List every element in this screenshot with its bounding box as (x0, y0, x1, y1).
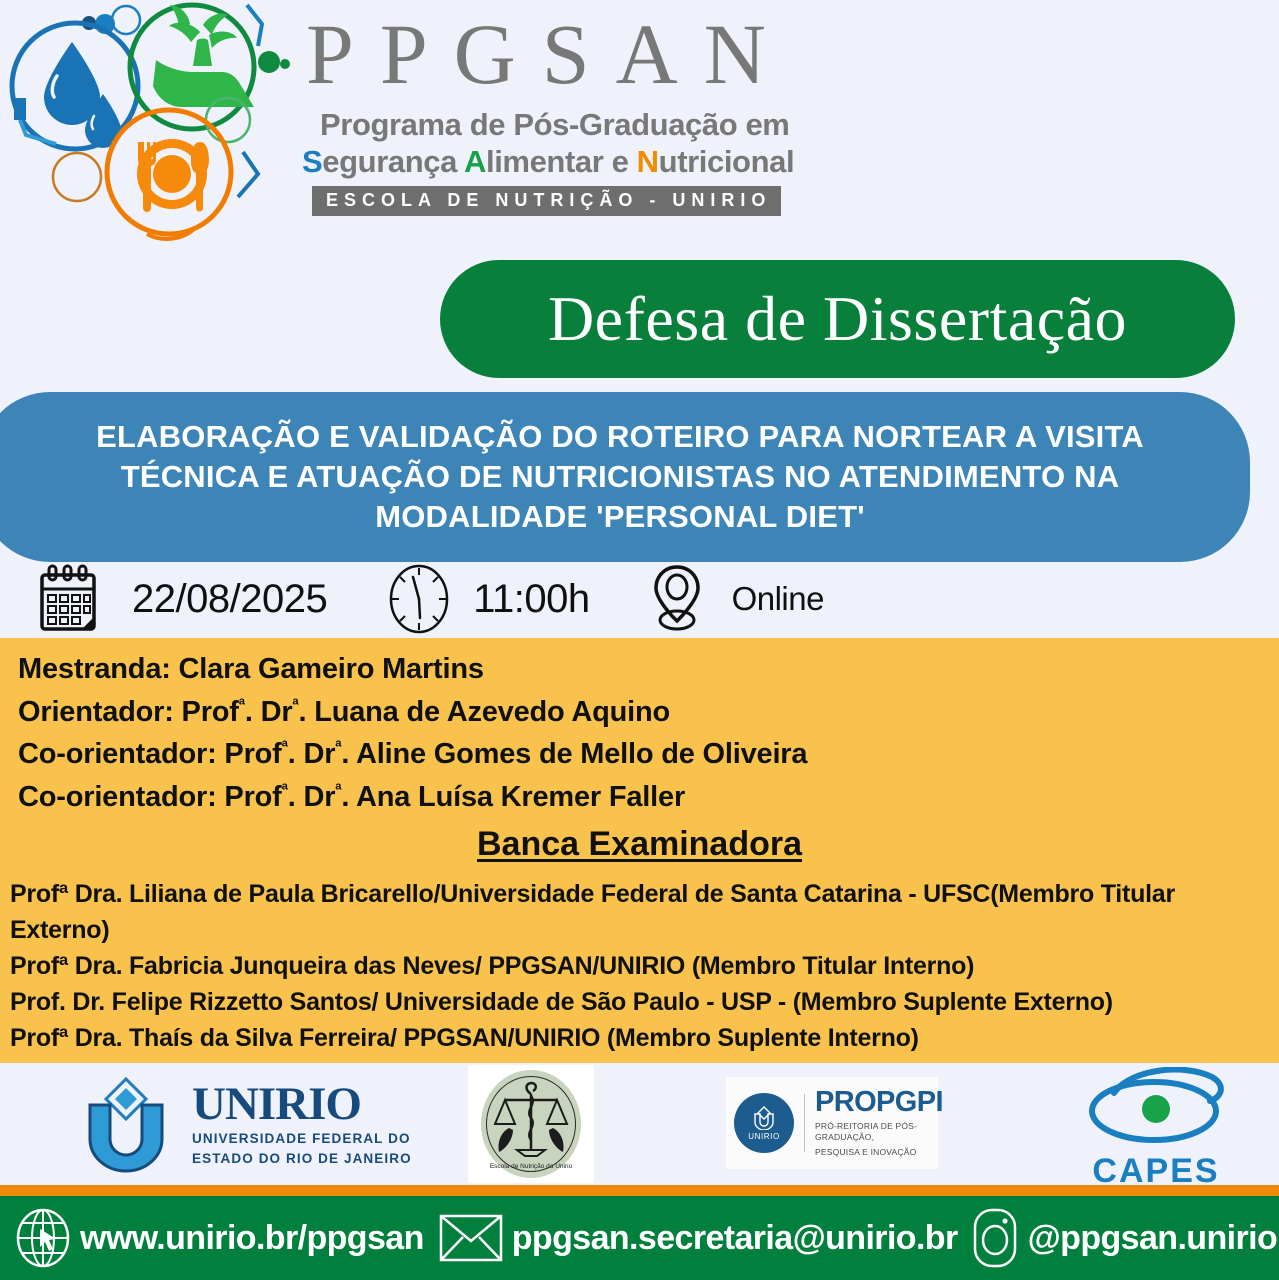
circle-outline-icon (53, 153, 101, 201)
dot-icon (258, 51, 280, 73)
propgpi-badge-label: UNIRIO (748, 1132, 780, 1141)
unirio-subtitle-2: ESTADO DO RIO DE JANEIRO (192, 1151, 412, 1168)
coadvisor-2-prefix: Co-orientador: Prof (18, 781, 282, 813)
coadvisor-1-prefix: Co-orientador: Prof (18, 738, 282, 770)
connector-line (238, 152, 258, 197)
circle-outline-icon (112, 6, 140, 34)
brand-school-bar: ESCOLA DE NUTRIÇÃO - UNIRIO (312, 186, 781, 216)
brand-line-2: Segurança Alimentar e Nutricional (298, 144, 858, 180)
website-item[interactable]: www.unirio.br/ppgsan (14, 1207, 424, 1269)
poster-header: PPGSAN Programa de Pós-Graduação em Segu… (0, 0, 1279, 248)
orange-stripe (0, 1185, 1279, 1196)
propgpi-text: PROPGPI PRÓ-REITORIA DE PÓS-GRADUAÇÃO, P… (815, 1088, 943, 1158)
clock-icon (387, 563, 451, 635)
poster-root: PPGSAN Programa de Pós-Graduação em Segu… (0, 0, 1279, 1280)
brand-line-1: Programa de Pós-Graduação em (298, 107, 858, 143)
propgpi-tagline-2: PESQUISA E INOVAÇÃO (815, 1147, 943, 1158)
capes-mark-icon (1076, 1067, 1236, 1151)
propgpi-tagline-1: PRÓ-REITORIA DE PÓS-GRADUAÇÃO, (815, 1121, 943, 1143)
advisor-mid: . Dr (245, 696, 293, 728)
map-pin-icon (648, 563, 706, 635)
coadvisor-1-name: . Aline Gomes de Mello de Oliveira (341, 738, 807, 770)
event-meta-row: 22/08/2025 11:00h (0, 560, 1279, 638)
event-date-item: 22/08/2025 (34, 563, 327, 635)
escola-ring (486, 1076, 576, 1172)
advisor-prefix: Orientador: Prof (18, 696, 239, 728)
event-date: 22/08/2025 (132, 577, 327, 622)
committee-member: Prof. Dr. Felipe Rizzetto Santos/ Univer… (8, 984, 1271, 1020)
brand-acronym: PPGSAN (298, 4, 858, 105)
event-type-label: Defesa de Dissertação (548, 282, 1127, 356)
advisor-name: . Luana de Azevedo Aquino (299, 696, 671, 728)
brand-seguranca: egurança (322, 144, 464, 179)
instagram-icon (970, 1207, 1020, 1269)
event-type-banner: Defesa de Dissertação (440, 260, 1235, 378)
unirio-logo: UNIRIO UNIVERSIDADE FEDERAL DO ESTADO DO… (72, 1075, 412, 1173)
contact-footer: www.unirio.br/ppgsan ppgsan.secretaria@u… (0, 1196, 1279, 1280)
propgpi-badge: UNIRIO (734, 1093, 794, 1153)
propgpi-logo: UNIRIO PROPGPI PRÓ-REITORIA DE PÓS-GRADU… (726, 1077, 938, 1169)
unirio-mark-small-icon (751, 1106, 777, 1130)
email-text: ppgsan.secretaria@unirio.br (512, 1219, 958, 1258)
committee-member: Profª Dra. Thaís da Silva Ferreira/ PPGS… (8, 1020, 1271, 1056)
sponsor-logos-row: UNIRIO UNIVERSIDADE FEDERAL DO ESTADO DO… (0, 1063, 1279, 1185)
unirio-name: UNIRIO (192, 1081, 412, 1128)
plate-cutlery-icon (137, 139, 209, 212)
thesis-title: ELABORAÇÃO E VALIDAÇÃO DO ROTEIRO PARA N… (50, 417, 1190, 536)
event-place-item: Online (648, 563, 824, 635)
details-panel: Mestranda: Clara Gameiro Martins Orienta… (0, 638, 1279, 1063)
coadvisor-1-line: Co-orientador: Profª. Drª. Aline Gomes d… (8, 733, 1271, 776)
capes-logo: CAPES (1076, 1067, 1236, 1182)
event-place: Online (732, 580, 824, 618)
student-line: Mestranda: Clara Gameiro Martins (8, 648, 1271, 691)
globe-icon (14, 1207, 72, 1269)
coadvisor-2-mid: . Dr (288, 781, 336, 813)
propgpi-name: PROPGPI (815, 1088, 943, 1117)
website-text: www.unirio.br/ppgsan (80, 1219, 424, 1258)
brand-block: PPGSAN Programa de Pós-Graduação em Segu… (298, 4, 858, 240)
instagram-item[interactable]: @ppgsan.unirio (970, 1207, 1278, 1269)
square-dot-icon (14, 98, 26, 120)
decorative-icon-cluster (4, 2, 296, 242)
committee-heading: Banca Examinadora (8, 825, 1271, 864)
brand-alimentar: limentar e (486, 144, 637, 179)
thesis-title-banner: ELABORAÇÃO E VALIDAÇÃO DO ROTEIRO PARA N… (0, 392, 1250, 562)
event-time-item: 11:00h (387, 563, 589, 635)
committee-member: Profª Dra. Liliana de Paula Bricarello/U… (8, 876, 1271, 948)
email-item[interactable]: ppgsan.secretaria@unirio.br (438, 1210, 958, 1266)
hand-plant-ring (130, 5, 254, 129)
coadvisor-2-name: . Ana Luísa Kremer Faller (341, 781, 685, 813)
unirio-subtitle-1: UNIVERSIDADE FEDERAL DO (192, 1131, 412, 1148)
committee-member: Profª Dra. Fabricia Junqueira das Neves/… (8, 948, 1271, 984)
escola-disc: Escola de Nutrição da Unirio (481, 1070, 581, 1178)
unirio-text: UNIRIO UNIVERSIDADE FEDERAL DO ESTADO DO… (192, 1081, 412, 1168)
coadvisor-1-mid: . Dr (288, 738, 336, 770)
brand-a-letter: A (464, 144, 486, 179)
brand-nutricional: utricional (659, 144, 795, 179)
advisor-line: Orientador: Profª. Drª. Luana de Azevedo… (8, 691, 1271, 734)
brand-s-letter: S (302, 144, 322, 179)
unirio-mark-icon (72, 1075, 180, 1173)
coadvisor-2-line: Co-orientador: Profª. Drª. Ana Luísa Kre… (8, 776, 1271, 819)
hand-plant-icon (153, 5, 254, 107)
instagram-text: @ppgsan.unirio (1028, 1219, 1278, 1258)
envelope-icon (438, 1210, 504, 1266)
event-time: 11:00h (473, 577, 589, 622)
escola-nutricao-logo: Escola de Nutrição da Unirio (468, 1065, 594, 1183)
calendar-icon (34, 563, 102, 635)
dot-icon (280, 59, 290, 69)
propgpi-divider (804, 1094, 805, 1152)
brand-n-letter: N (637, 144, 659, 179)
